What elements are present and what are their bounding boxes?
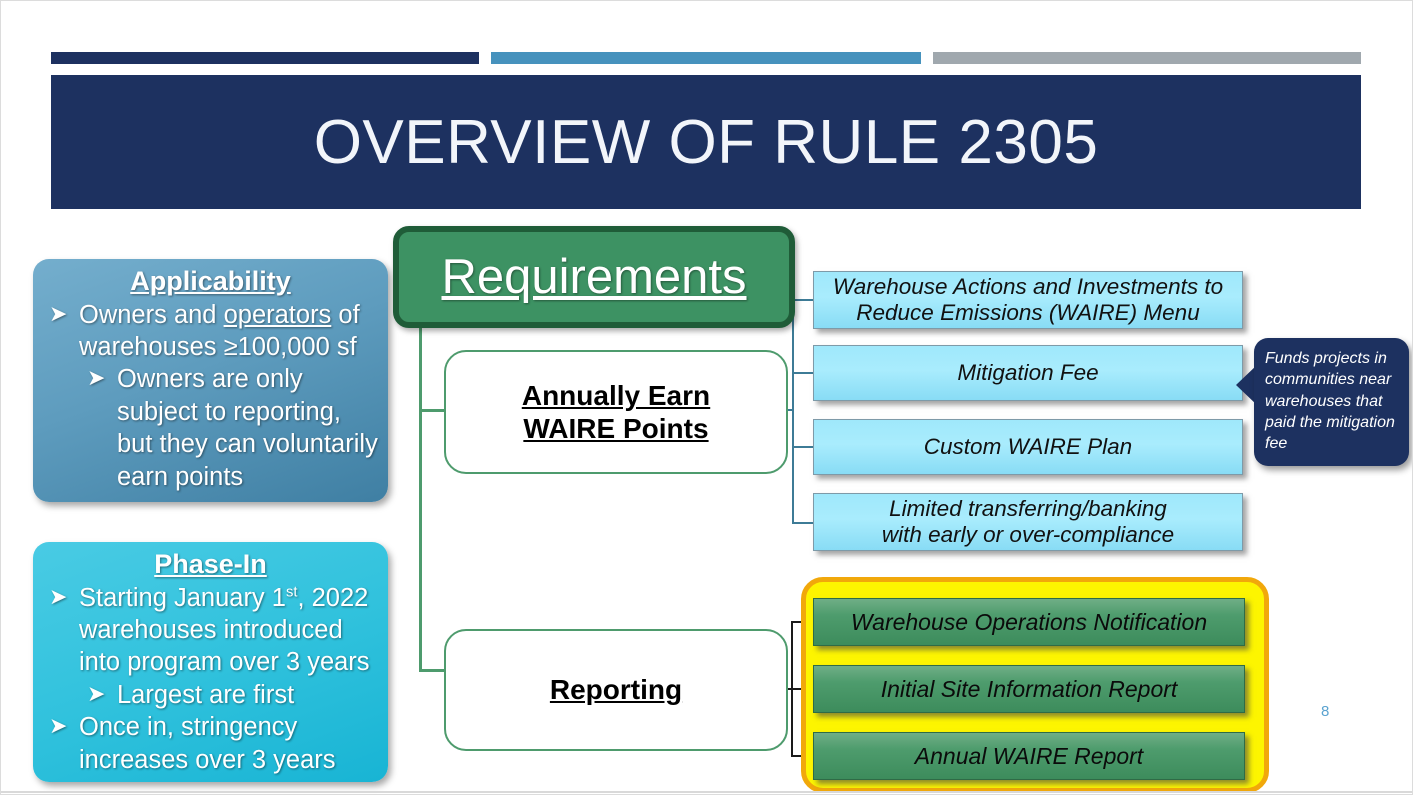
connector-to-annually — [419, 409, 446, 412]
list-item: ➤ Starting January 1st, 2022 warehouses … — [43, 582, 378, 679]
card-phase-in-title: Phase-In — [43, 550, 378, 580]
connector-to-custom-plan — [792, 446, 814, 448]
node-mitigation-fee[interactable]: Mitigation Fee — [813, 345, 1243, 401]
connector-to-reporting — [419, 669, 446, 672]
list-item-label: Owners are only subject to reporting, bu… — [117, 365, 378, 490]
arrow-bullet-icon: ➤ — [49, 299, 67, 329]
callout-text: Funds projects in communities near wareh… — [1265, 348, 1398, 454]
connector-to-mitigation-fee — [792, 372, 814, 374]
node-custom-waire-plan[interactable]: Custom WAIRE Plan — [813, 419, 1243, 475]
node-warehouse-operations-notification[interactable]: Warehouse Operations Notification — [813, 598, 1245, 646]
slide-canvas: OVERVIEW OF RULE 2305 Applicability ➤ Ow… — [0, 0, 1413, 795]
node-initial-site-information-report-label: Initial Site Information Report — [881, 676, 1178, 703]
page-number: 8 — [1321, 703, 1329, 720]
connector-blue-vertical — [792, 299, 794, 523]
node-warehouse-operations-notification-label: Warehouse Operations Notification — [851, 609, 1207, 636]
list-item-label: Once in, stringency increases over 3 yea… — [79, 713, 336, 773]
node-requirements[interactable]: Requirements — [393, 226, 795, 328]
node-custom-waire-plan-label: Custom WAIRE Plan — [924, 434, 1132, 460]
arrow-bullet-icon: ➤ — [49, 711, 67, 741]
card-applicability-list: ➤ Owners and operators of warehouses ≥10… — [43, 299, 378, 493]
node-waire-menu[interactable]: Warehouse Actions and Investments toRedu… — [813, 271, 1243, 329]
list-item: ➤ Owners are only subject to reporting, … — [43, 363, 378, 493]
connector-to-limited-transfer — [792, 522, 814, 524]
accent-bar-blue — [491, 52, 921, 64]
slide-title-bar: OVERVIEW OF RULE 2305 — [51, 75, 1361, 209]
node-reporting-label: Reporting — [550, 673, 682, 706]
node-annually-earn-waire-points[interactable]: Annually EarnWAIRE Points — [444, 350, 788, 474]
accent-bar-gray — [933, 52, 1361, 64]
connector-trunk-vertical — [419, 316, 422, 670]
node-requirements-label: Requirements — [441, 249, 746, 305]
list-item-label: Owners and operators of warehouses ≥100,… — [79, 301, 360, 361]
connector-to-waire-menu — [792, 299, 814, 301]
card-applicability: Applicability ➤ Owners and operators of … — [33, 259, 388, 502]
footer-divider — [1, 791, 1413, 793]
accent-bar-navy — [51, 52, 479, 64]
node-annually-earn-label: Annually EarnWAIRE Points — [522, 379, 710, 445]
node-waire-menu-label: Warehouse Actions and Investments toRedu… — [833, 274, 1223, 326]
arrow-bullet-icon: ➤ — [87, 679, 105, 709]
list-item: ➤ Owners and operators of warehouses ≥10… — [43, 299, 378, 364]
node-limited-transferring-label: Limited transferring/bankingwith early o… — [882, 496, 1174, 548]
list-item-label: Largest are first — [117, 681, 294, 709]
list-item-label: Starting January 1st, 2022 warehouses in… — [79, 584, 370, 677]
card-phase-in-list: ➤ Starting January 1st, 2022 warehouses … — [43, 582, 378, 776]
node-annual-waire-report-label: Annual WAIRE Report — [915, 743, 1143, 770]
card-applicability-title: Applicability — [43, 267, 378, 297]
list-item: ➤ Largest are first — [43, 679, 378, 711]
page-title: OVERVIEW OF RULE 2305 — [314, 107, 1099, 178]
arrow-bullet-icon: ➤ — [87, 363, 105, 393]
node-initial-site-information-report[interactable]: Initial Site Information Report — [813, 665, 1245, 713]
arrow-bullet-icon: ➤ — [49, 582, 67, 612]
node-reporting[interactable]: Reporting — [444, 629, 788, 751]
card-phase-in: Phase-In ➤ Starting January 1st, 2022 wa… — [33, 542, 388, 782]
node-mitigation-fee-label: Mitigation Fee — [957, 360, 1098, 386]
node-limited-transferring-banking[interactable]: Limited transferring/bankingwith early o… — [813, 493, 1243, 551]
list-item: ➤ Once in, stringency increases over 3 y… — [43, 711, 378, 776]
node-annual-waire-report[interactable]: Annual WAIRE Report — [813, 732, 1245, 780]
callout-mitigation-fee: Funds projects in communities near wareh… — [1254, 338, 1409, 466]
